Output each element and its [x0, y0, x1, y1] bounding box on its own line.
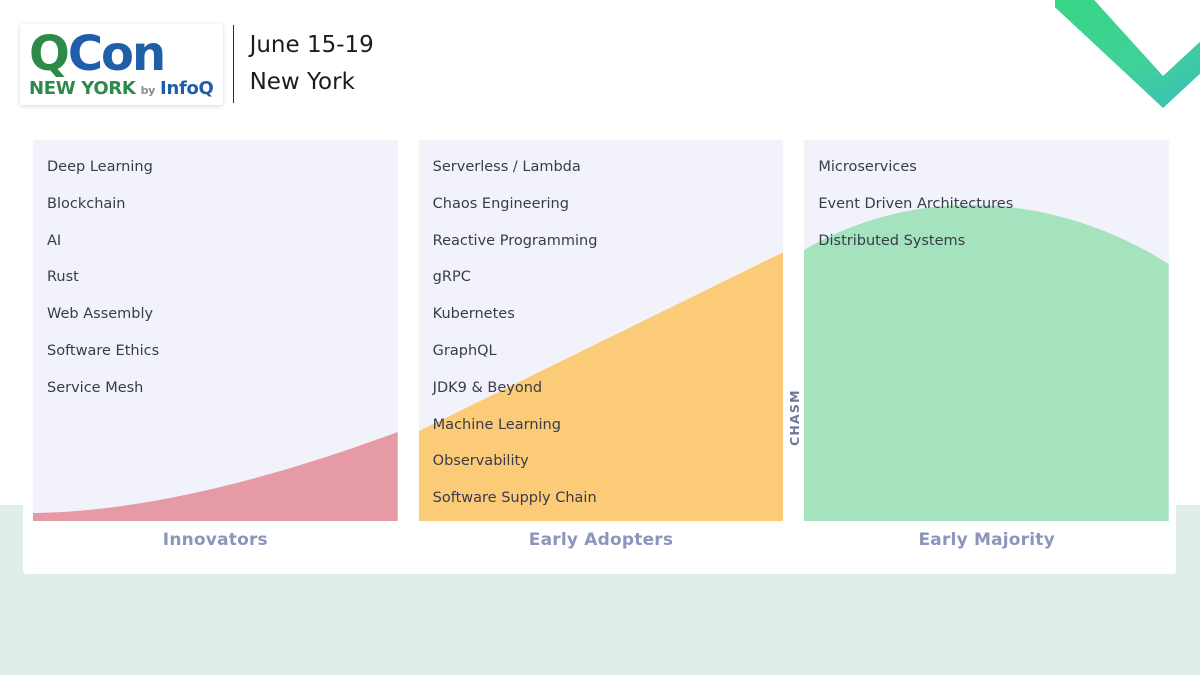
- brand-header: QCon NEW YORK by InfoQ June 15-19 New Yo…: [20, 24, 374, 105]
- list-item: Software Ethics: [47, 344, 398, 359]
- qcon-logo-q: Q: [29, 26, 68, 82]
- event-dates: June 15-19: [250, 27, 374, 64]
- column-innovators: Deep Learning Blockchain AI Rust Web Ass…: [33, 140, 398, 521]
- chasm-label: CHASM: [787, 389, 802, 446]
- stage-label-early-majority: Early Majority: [804, 530, 1169, 550]
- list-item: Blockchain: [47, 197, 398, 212]
- header-divider: [233, 25, 234, 103]
- column-early-majority: Microservices Event Driven Architectures…: [804, 140, 1169, 521]
- column-early-adopters: Serverless / Lambda Chaos Engineering Re…: [419, 140, 784, 521]
- qcon-logo: QCon NEW YORK by InfoQ: [20, 24, 223, 105]
- adoption-columns: Deep Learning Blockchain AI Rust Web Ass…: [33, 140, 1169, 521]
- qcon-logo-city: NEW YORK: [29, 80, 136, 98]
- stage-label-innovators: Innovators: [33, 530, 398, 550]
- list-item: Deep Learning: [47, 160, 398, 175]
- adoption-curve-card: Deep Learning Blockchain AI Rust Web Ass…: [23, 112, 1176, 574]
- innovators-item-list: Deep Learning Blockchain AI Rust Web Ass…: [33, 140, 398, 395]
- stage-label-early-adopters: Early Adopters: [419, 530, 784, 550]
- qcon-logo-by: by: [141, 85, 155, 96]
- list-item: Software Supply Chain: [433, 491, 784, 506]
- list-item: Serverless / Lambda: [433, 160, 784, 175]
- list-item: Machine Learning: [433, 418, 784, 433]
- qcon-logo-infoq: InfoQ: [160, 80, 214, 98]
- qcon-logo-con: Con: [68, 26, 164, 82]
- list-item: Web Assembly: [47, 307, 398, 322]
- check-mark-icon: [1055, 0, 1200, 116]
- list-item: Microservices: [818, 160, 1169, 175]
- list-item: GraphQL: [433, 344, 784, 359]
- list-item: Distributed Systems: [818, 234, 1169, 249]
- qcon-logo-tagline: NEW YORK by InfoQ: [29, 80, 214, 98]
- list-item: gRPC: [433, 270, 784, 285]
- list-item: Rust: [47, 270, 398, 285]
- event-details: June 15-19 New York: [250, 27, 374, 102]
- list-item: JDK9 & Beyond: [433, 381, 784, 396]
- list-item: Reactive Programming: [433, 234, 784, 249]
- list-item: Service Mesh: [47, 381, 398, 396]
- list-item: Chaos Engineering: [433, 197, 784, 212]
- early-majority-item-list: Microservices Event Driven Architectures…: [804, 140, 1169, 248]
- list-item: AI: [47, 234, 398, 249]
- list-item: Kubernetes: [433, 307, 784, 322]
- slide-canvas: QCon NEW YORK by InfoQ June 15-19 New Yo…: [0, 0, 1200, 675]
- early-adopters-item-list: Serverless / Lambda Chaos Engineering Re…: [419, 140, 784, 506]
- list-item: Observability: [433, 454, 784, 469]
- event-city: New York: [250, 64, 374, 101]
- stage-labels: Innovators Early Adopters Early Majority: [33, 530, 1169, 550]
- list-item: Event Driven Architectures: [818, 197, 1169, 212]
- qcon-logo-wordmark: QCon: [29, 32, 214, 78]
